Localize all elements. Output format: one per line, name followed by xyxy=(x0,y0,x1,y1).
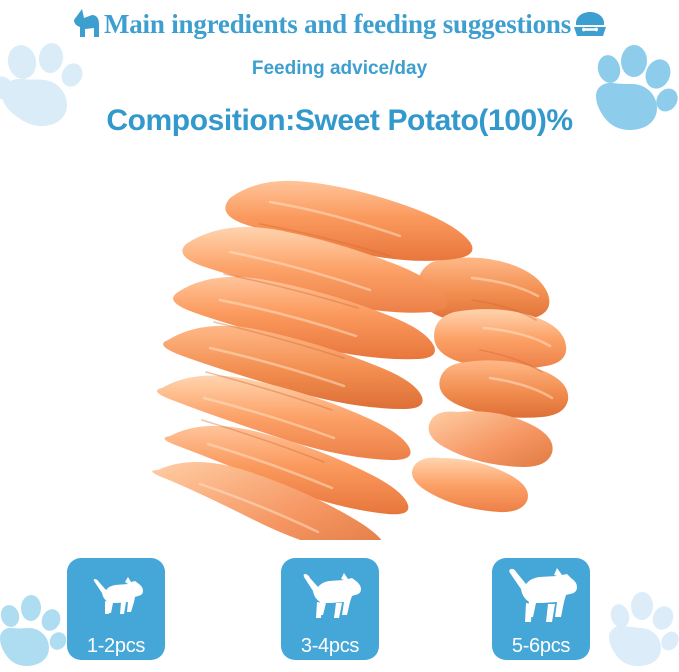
feeding-card-label: 3-4pcs xyxy=(301,636,359,657)
large-dog-icon xyxy=(503,567,579,627)
feeding-card-label: 5-6pcs xyxy=(512,636,570,657)
feeding-cards: 1-2pcs 3-4pcs xyxy=(0,558,679,664)
page-title: Main ingredients and feeding suggestions xyxy=(104,11,571,38)
infographic-page: Main ingredients and feeding suggestions… xyxy=(0,0,679,672)
feeding-card-label: 1-2pcs xyxy=(87,636,145,657)
medium-dog-icon xyxy=(297,571,363,623)
medium-dog-icon-wrap xyxy=(281,558,379,636)
subtitle-feeding-advice: Feeding advice/day xyxy=(0,58,679,80)
small-dog-icon-wrap xyxy=(67,558,165,636)
header-title-row: Main ingredients and feeding suggestions xyxy=(0,6,679,42)
small-dog-icon xyxy=(87,575,145,619)
feeding-card-small[interactable]: 1-2pcs xyxy=(67,558,165,660)
composition-text: Composition:Sweet Potato(100)% xyxy=(0,104,679,138)
dog-sitting-icon xyxy=(72,8,102,40)
feeding-card-large[interactable]: 5-6pcs xyxy=(492,558,590,660)
feeding-card-medium[interactable]: 3-4pcs xyxy=(281,558,379,660)
large-dog-icon-wrap xyxy=(492,558,590,636)
product-image xyxy=(80,140,600,540)
dog-food-bowl-icon xyxy=(573,9,607,39)
